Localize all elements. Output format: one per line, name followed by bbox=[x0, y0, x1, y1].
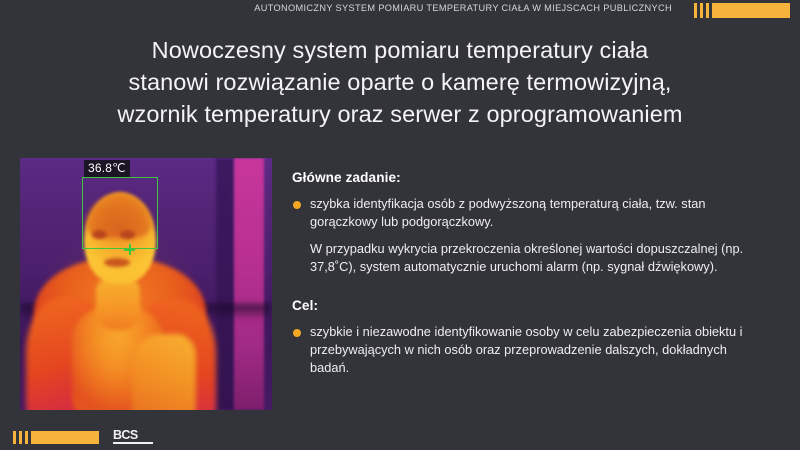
face-detection-box bbox=[82, 177, 158, 249]
slide-header: AUTONOMICZNY SYSTEM POMIARU TEMPERATURY … bbox=[0, 0, 800, 22]
thermal-camera-image: 36.8℃ bbox=[20, 158, 272, 410]
footer-bar-1 bbox=[13, 431, 16, 444]
slide-title: Nowoczesny system pomiaru temperatury ci… bbox=[0, 34, 800, 130]
title-line-2: stanowi rozwiązanie oparte o kamerę term… bbox=[0, 66, 800, 98]
header-bar-1 bbox=[694, 3, 697, 18]
header-bar-3 bbox=[706, 3, 709, 18]
bcs-logo-underline bbox=[113, 442, 153, 444]
footer-bar-3 bbox=[25, 431, 28, 444]
measurement-crosshair-icon bbox=[124, 244, 135, 255]
paragraph-alarm-threshold: W przypadku wykrycia przekroczenia okreś… bbox=[292, 240, 762, 275]
footer-accent-bars bbox=[13, 431, 99, 444]
bullet-text-goal: szybkie i niezawodne identyfikowanie oso… bbox=[310, 324, 743, 375]
title-line-1: Nowoczesny system pomiaru temperatury ci… bbox=[0, 34, 800, 66]
temperature-readout-label: 36.8℃ bbox=[84, 160, 130, 177]
bullet-text-main-task: szybka identyfikacja osób z podwyższoną … bbox=[310, 196, 705, 229]
header-bar-2 bbox=[700, 3, 703, 18]
bullet-dot-icon bbox=[293, 329, 301, 337]
header-accent-bars bbox=[694, 3, 790, 18]
bcs-logo: BCS bbox=[113, 429, 157, 444]
bcs-logo-text: BCS bbox=[113, 429, 157, 441]
content-column: Główne zadanie: szybka identyfikacja osó… bbox=[292, 170, 762, 386]
section-heading-goal: Cel: bbox=[292, 298, 762, 313]
bullet-item-main-task: szybka identyfikacja osób z podwyższoną … bbox=[292, 195, 762, 231]
header-title: AUTONOMICZNY SYSTEM POMIARU TEMPERATURY … bbox=[254, 3, 672, 13]
section-spacer bbox=[292, 281, 762, 298]
footer-bar-wide bbox=[31, 431, 99, 444]
bullet-dot-icon bbox=[293, 201, 301, 209]
footer-bar-2 bbox=[19, 431, 22, 444]
bullet-item-goal: szybkie i niezawodne identyfikowanie oso… bbox=[292, 323, 762, 377]
title-line-3: wzornik temperatury oraz serwer z oprogr… bbox=[0, 98, 800, 130]
header-bar-wide bbox=[712, 3, 790, 18]
slide-footer: BCS bbox=[0, 424, 800, 450]
slide-root: AUTONOMICZNY SYSTEM POMIARU TEMPERATURY … bbox=[0, 0, 800, 450]
section-heading-main-task: Główne zadanie: bbox=[292, 170, 762, 185]
